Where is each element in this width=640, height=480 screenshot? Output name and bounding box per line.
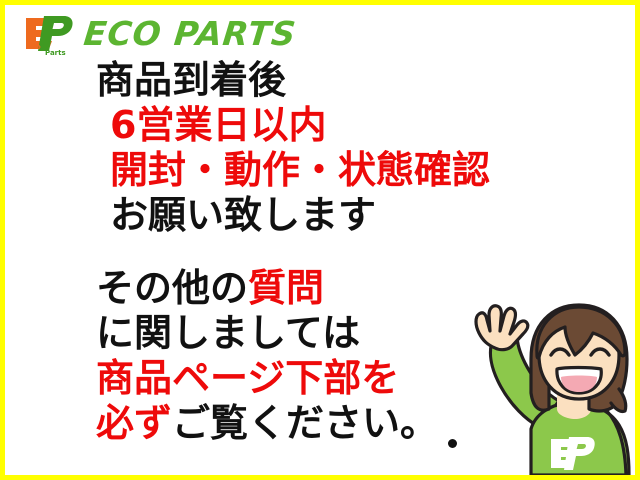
message-line-5: その他の質問 bbox=[96, 266, 566, 311]
brand-header: Eco Parts ECO PARTS bbox=[18, 10, 296, 56]
message-line-6: に関しましては bbox=[96, 311, 566, 356]
message-line-7: 商品ページ下部を bbox=[96, 356, 566, 401]
logo-eco-text: Eco bbox=[27, 43, 41, 51]
frame-left-edge bbox=[0, 0, 5, 480]
frame-bottom-edge bbox=[0, 475, 640, 480]
message-line-8-part-1: 必ず bbox=[96, 401, 172, 445]
message-line-5-part-2: 質問 bbox=[248, 266, 324, 310]
message-line-7-part-1: 商品ページ下部を bbox=[96, 356, 399, 400]
message-line-4: お願い致します bbox=[96, 193, 566, 238]
message-spacer bbox=[96, 238, 566, 266]
message-line-8: 必ずご覧ください。 bbox=[96, 401, 566, 446]
brand-wordmark: ECO PARTS bbox=[82, 17, 298, 50]
logo-parts-text: Parts bbox=[45, 49, 66, 56]
frame-top-edge bbox=[0, 0, 640, 5]
message-line-1: 商品到着後 bbox=[96, 58, 566, 103]
eco-parts-logo-icon: Eco Parts bbox=[18, 10, 76, 56]
frame-right-edge bbox=[635, 0, 640, 480]
message-line-5-part-1: その他の bbox=[96, 266, 248, 310]
message-line-8-part-2: ご覧ください。 bbox=[172, 401, 438, 445]
message-line-6-part-1: に関しましては bbox=[96, 311, 360, 355]
message-line-2: 6営業日以内 bbox=[96, 103, 566, 148]
message-line-3: 開封・動作・状態確認 bbox=[96, 148, 566, 193]
notice-image: Eco Parts ECO PARTS 商品到着後 6営業日以内 開封・動作・状… bbox=[0, 0, 640, 480]
notice-message: 商品到着後 6営業日以内 開封・動作・状態確認 お願い致します その他の質問 に… bbox=[96, 58, 566, 446]
